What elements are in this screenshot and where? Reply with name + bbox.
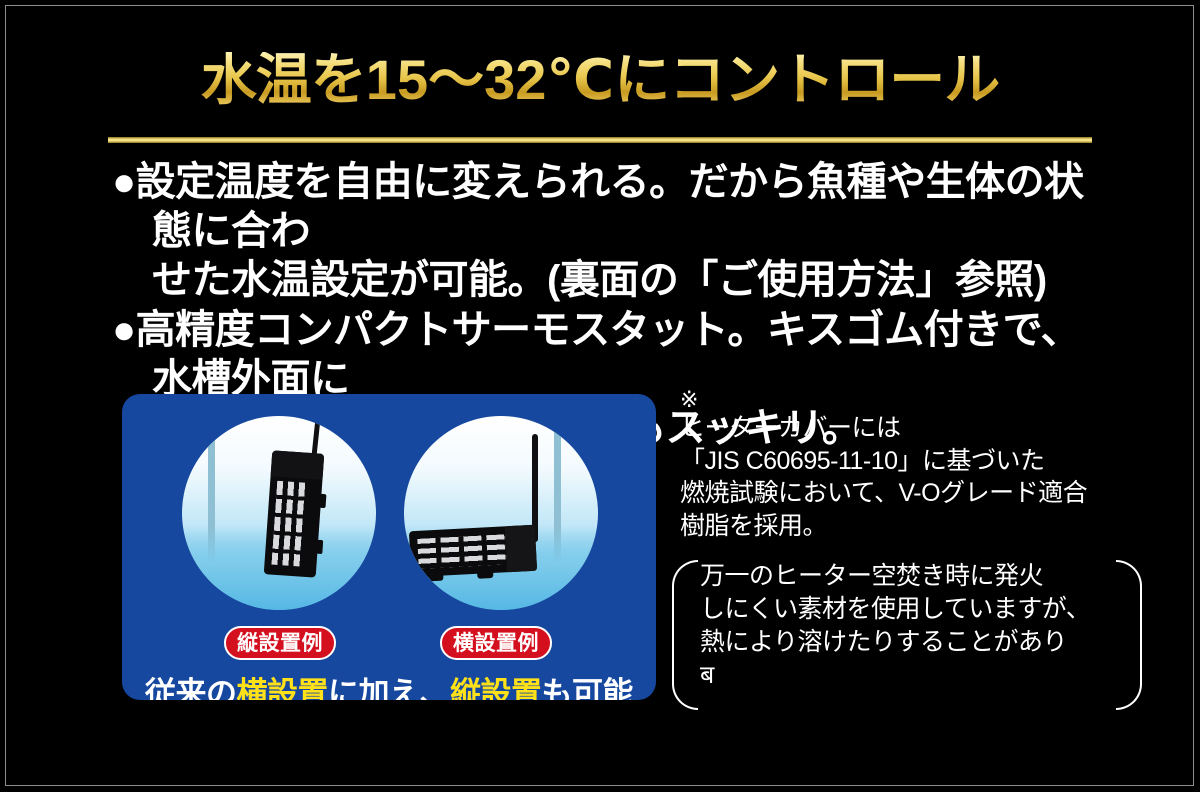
horizontal-installation-photo — [404, 416, 598, 610]
heater-foot — [427, 575, 443, 582]
caption-seg-1: 従来の — [145, 676, 237, 700]
bullet-line-2: せた水温設定が可能。(裏面の「ご使用方法」参照) — [152, 256, 1102, 305]
bullet-marker: ● — [112, 160, 136, 204]
aquarium-heater-vertical — [264, 450, 325, 577]
headline-part1: 水温を — [201, 48, 366, 111]
gold-divider-rule — [108, 137, 1092, 143]
status-badge-vertical: 縦設置例 — [224, 626, 336, 660]
heater-cap — [271, 450, 325, 480]
list-item: ●設定温度を自由に変えられる。だから魚種や生体の状態に合わ せた水温設定が可能。… — [112, 158, 1102, 304]
jis-note-line-3: 燃焼試験において、V-Oグレード適合 — [680, 479, 1087, 507]
caution-note-block: 万一のヒーター空焚き時に発火 しにくい素材を使用していますが、 熱により溶けたり… — [672, 560, 1142, 710]
jis-note-line-1: ヒーターカバーには — [680, 414, 901, 442]
caption-seg-5: も可能 — [542, 676, 634, 700]
caution-line-2: しにくい素材を使用していますが、 — [700, 595, 1090, 623]
heater-grill — [271, 481, 309, 567]
status-badge-horizontal: 横設置例 — [440, 626, 552, 660]
asterisk-mark-icon: ※ — [680, 388, 1140, 412]
headline: 水温を15〜32℃にコントロール — [0, 52, 1200, 108]
heater-grill-columns — [417, 534, 506, 569]
panel-caption: 従来の横設置に加え、縦設置も可能 — [122, 668, 656, 700]
heater-cap — [505, 525, 537, 573]
headline-temperature-range: 15〜32℃ — [366, 48, 614, 111]
heater-foot — [477, 572, 493, 579]
jis-note-line-2: 「JIS C60695-11-10」に基づいた — [680, 447, 1045, 475]
caption-seg-3: に加え、 — [328, 676, 450, 700]
caution-line-1: 万一のヒーター空焚き時に発火 — [700, 562, 1043, 590]
installation-examples-panel: 縦設置例 横設置例 従来の横設置に加え、縦設置も可能 — [122, 394, 656, 700]
aquarium-heater-horizontal — [409, 525, 537, 578]
bullet-marker: ● — [112, 308, 136, 352]
heater-grill-rows — [271, 481, 309, 567]
caution-line-4: ब — [700, 661, 714, 689]
product-feature-panel: 水温を15〜32℃にコントロール ●設定温度を自由に変えられる。だから魚種や生体… — [0, 0, 1200, 792]
caution-note-text: 万一のヒーター空焚き時に発火 しにくい素材を使用していますが、 熱により溶けたり… — [700, 560, 1120, 692]
headline-part2: に — [614, 48, 669, 111]
jis-standard-note: ※ ヒーターカバーには 「JIS C60695-11-10」に基づいた 燃焼試験… — [680, 388, 1140, 542]
caution-line-3: 熱により溶けたりすることがあり — [700, 628, 1067, 656]
caption-seg-4-highlight: 縦設置 — [450, 676, 542, 700]
headline-part3: コントロール — [669, 48, 999, 111]
jis-note-line-4: 樹脂を採用。 — [680, 512, 827, 540]
bullet-line-1: 設定温度を自由に変えられる。だから魚種や生体の状態に合わ — [136, 160, 1084, 253]
heater-grill — [417, 534, 506, 569]
heater-clip — [319, 494, 326, 508]
heater-clip — [316, 540, 323, 554]
vertical-installation-photo — [182, 416, 376, 610]
left-brace-icon — [672, 560, 698, 710]
caption-seg-2-highlight: 横設置 — [237, 676, 329, 700]
